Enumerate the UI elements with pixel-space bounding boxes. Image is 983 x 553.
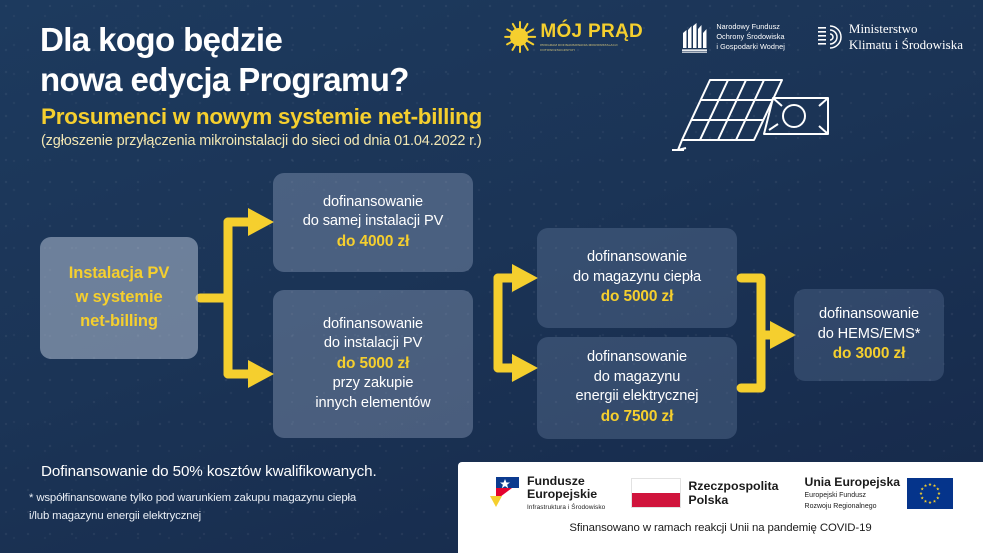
pv-other-amount: do 5000 zł <box>337 354 410 375</box>
footer-bar: Fundusze Europejskie Infrastruktura i Śr… <box>458 462 983 553</box>
heat-amount: do 5000 zł <box>601 287 674 308</box>
flow-box-hems[interactable]: dofinansowanie do HEMS/EMS* do 3000 zł <box>794 289 944 381</box>
origin-line-1: Instalacja PV <box>69 262 170 286</box>
flow-box-pv-only[interactable]: dofinansowanie do samej instalacji PV do… <box>273 173 473 272</box>
solar-panel-money-icon <box>672 72 872 167</box>
flow-box-electric-storage[interactable]: dofinansowanie do magazynu energii elekt… <box>537 337 737 439</box>
elec-amount: do 7500 zł <box>601 407 674 428</box>
unia-europejska-logo: Unia Europejska Europejski Fundusz Rozwo… <box>805 475 954 512</box>
fundusze-line-2: Europejskie <box>527 488 605 502</box>
flow-box-origin[interactable]: Instalacja PV w systemie net-billing <box>40 237 198 359</box>
sun-icon <box>504 22 534 52</box>
pv-only-amount: do 4000 zł <box>337 232 410 253</box>
page-subtitle: Prosumenci w nowym systemie net-billing <box>41 104 482 130</box>
ministry-label: Ministerstwo Klimatu i Środowiska <box>849 21 963 52</box>
elec-line-2: do magazynu <box>594 368 681 388</box>
flow-box-pv-other[interactable]: dofinansowanie do instalacji PV do 5000 … <box>273 290 473 438</box>
origin-line-3: net-billing <box>80 310 158 334</box>
rzeczpospolita-line-1: Rzeczpospolita <box>688 479 778 493</box>
elec-line-1: dofinansowanie <box>587 348 687 368</box>
eu-flag-icon <box>907 478 953 509</box>
ministry-emblem-icon <box>817 24 843 50</box>
nfosigw-emblem-icon <box>680 21 710 53</box>
elec-line-3: energii elektrycznej <box>576 387 699 407</box>
poland-flag-icon <box>631 478 681 508</box>
pv-other-line-1: dofinansowanie <box>323 315 423 335</box>
pv-only-line-1: dofinansowanie <box>323 193 423 213</box>
nfosigw-line-1: Narodowy Fundusz <box>716 22 785 32</box>
unia-line-1: Unia Europejska <box>805 475 901 489</box>
mojprad-logo: MÓJ PRĄD PROGRAM DOFINANSOWANIA MIKROINS… <box>504 22 648 53</box>
unia-line-2: Europejski Fundusz <box>805 491 901 500</box>
footnote-line-2: i/lub magazynu energii elektrycznej <box>29 510 201 522</box>
footnote-asterisk: * <box>29 492 33 504</box>
fundusze-stars-icon <box>488 476 520 510</box>
footer-logo-row: Fundusze Europejskie Infrastruktura i Śr… <box>458 470 983 516</box>
page-subnote: (zgłoszenie przyłączenia mikroinstalacji… <box>41 133 482 149</box>
logo-row: MÓJ PRĄD PROGRAM DOFINANSOWANIA MIKROINS… <box>504 14 963 60</box>
footnote-line-1: współfinansowane tylko pod warunkiem zak… <box>36 492 356 504</box>
pv-other-line-3: przy zakupie <box>333 374 414 394</box>
nfosigw-label: Narodowy Fundusz Ochrony Środowiska i Go… <box>716 22 785 52</box>
origin-line-2: w systemie <box>75 286 162 310</box>
nfosigw-logo: Narodowy Fundusz Ochrony Środowiska i Go… <box>680 21 785 53</box>
note-footnote: * współfinansowane tylko pod warunkiem z… <box>29 490 449 525</box>
pv-other-line-2: do instalacji PV <box>324 334 422 354</box>
nfosigw-line-3: i Gospodarki Wodnej <box>716 42 785 52</box>
fundusze-line-1: Fundusze <box>527 475 605 489</box>
infographic-root: Dla kogo będzie nowa edycja Programu? Pr… <box>0 0 983 553</box>
rzeczpospolita-polska-logo: Rzeczpospolita Polska <box>631 478 778 508</box>
pv-other-line-4: innych elementów <box>315 394 430 414</box>
ministry-line-1: Ministerstwo <box>849 21 963 37</box>
nfosigw-line-2: Ochrony Środowiska <box>716 32 785 42</box>
fundusze-line-3: Infrastruktura i Środowisko <box>527 504 605 511</box>
rzeczpospolita-line-2: Polska <box>688 493 778 507</box>
hems-amount: do 3000 zł <box>833 344 906 365</box>
flow-box-heat-storage[interactable]: dofinansowanie do magazynu ciepła do 500… <box>537 228 737 328</box>
hems-line-1: dofinansowanie <box>819 305 919 325</box>
title-line-2: nowa edycja Programu? <box>40 60 560 100</box>
note-main: Dofinansowanie do 50% kosztów kwalifikow… <box>41 463 377 480</box>
unia-line-3: Rozwoju Regionalnego <box>805 502 901 511</box>
pv-only-line-2: do samej instalacji PV <box>303 212 444 232</box>
ministry-line-2: Klimatu i Środowiska <box>849 37 963 53</box>
footer-statement: Sfinansowano w ramach reakcji Unii na pa… <box>458 522 983 534</box>
mojprad-tagline: PROGRAM DOFINANSOWANIA MIKROINSTALACJI F… <box>540 43 648 52</box>
ministerstwo-logo: Ministerstwo Klimatu i Środowiska <box>817 21 963 52</box>
heat-line-2: do magazynu ciepła <box>573 268 701 288</box>
fundusze-europejskie-logo: Fundusze Europejskie Infrastruktura i Śr… <box>488 475 605 512</box>
heat-line-1: dofinansowanie <box>587 248 687 268</box>
hems-line-2: do HEMS/EMS* <box>818 325 921 345</box>
page-title: Dla kogo będzie nowa edycja Programu? <box>40 20 560 99</box>
title-line-1: Dla kogo będzie <box>40 21 282 58</box>
mojprad-name: MÓJ PRĄD <box>540 22 648 41</box>
